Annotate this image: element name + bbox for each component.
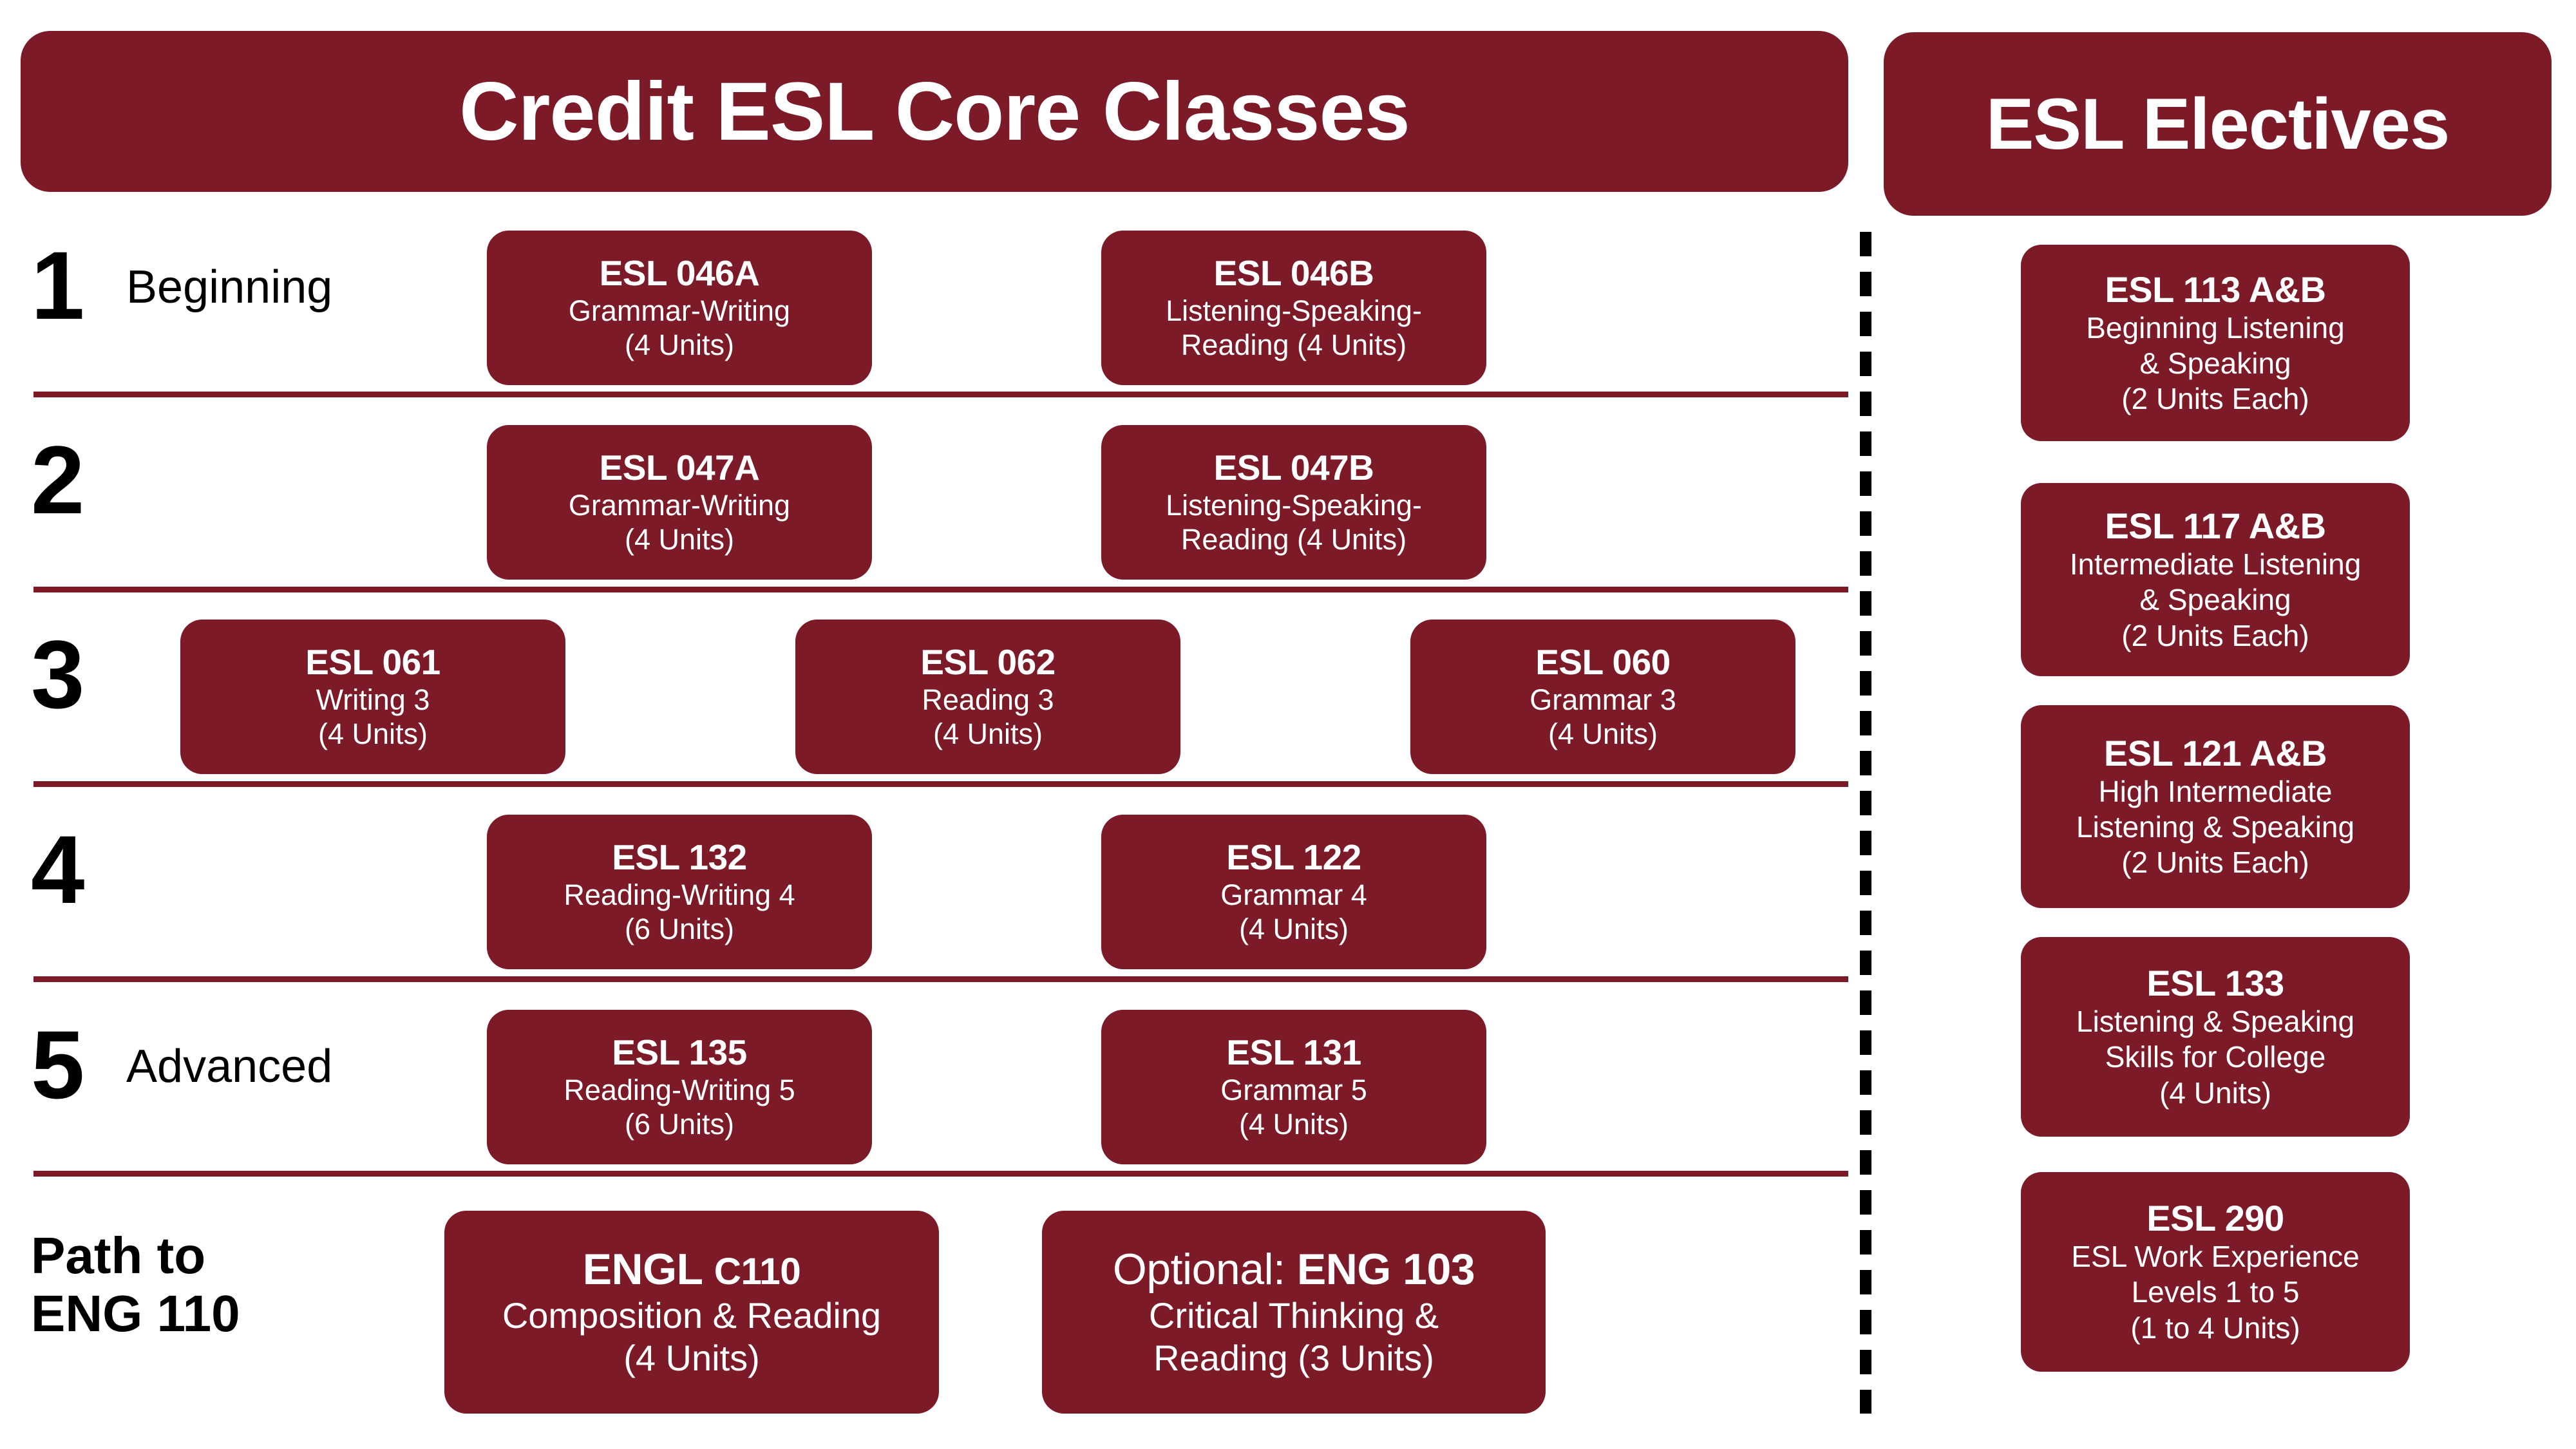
elective-code: ESL 113 A&B [2105,269,2325,310]
level-number-2: 2 [31,431,84,528]
course-box-esl-131[interactable]: ESL 131 Grammar 5 (4 Units) [1101,1010,1486,1164]
core-classes-banner: Credit ESL Core Classes [21,31,1848,192]
course-code-prefix: ENGL [583,1245,714,1294]
course-code-bold: ENG 103 [1297,1245,1475,1294]
course-code-suffix: C110 [714,1251,801,1293]
level-number-3: 3 [31,626,84,723]
course-box-esl-132[interactable]: ESL 132 Reading-Writing 4 (6 Units) [487,815,872,969]
course-desc: Writing 3 (4 Units) [316,683,430,751]
elective-desc: Listening & Speaking Skills for College … [2076,1004,2354,1111]
elective-box-esl-121[interactable]: ESL 121 A&B High Intermediate Listening … [2021,705,2410,908]
elective-code: ESL 290 [2146,1198,2284,1239]
elective-box-esl-133[interactable]: ESL 133 Listening & Speaking Skills for … [2021,937,2410,1137]
elective-box-esl-117[interactable]: ESL 117 A&B Intermediate Listening & Spe… [2021,483,2410,676]
course-box-esl-046a[interactable]: ESL 046A Grammar-Writing (4 Units) [487,231,872,385]
course-code: ESL 135 [612,1033,747,1073]
course-desc: Critical Thinking & Reading (3 Units) [1149,1294,1439,1379]
dashed-divider [1860,232,1871,1414]
elective-desc: ESL Work Experience Levels 1 to 5 (1 to … [2071,1239,2359,1346]
course-code: ENGL C110 [583,1245,801,1294]
path-to-eng110-label: Path to ENG 110 [31,1227,240,1342]
course-desc: Listening-Speaking- Reading (4 Units) [1166,488,1422,556]
course-box-esl-135[interactable]: ESL 135 Reading-Writing 5 (6 Units) [487,1010,872,1164]
course-box-esl-060[interactable]: ESL 060 Grammar 3 (4 Units) [1410,620,1795,774]
course-code: ESL 061 [305,643,440,683]
course-desc: Reading-Writing 4 (6 Units) [563,878,795,946]
level-word-beginning: Beginning [126,264,332,310]
course-desc: Reading-Writing 5 (6 Units) [563,1073,795,1141]
core-classes-banner-title: Credit ESL Core Classes [459,64,1410,159]
course-desc: Composition & Reading (4 Units) [502,1294,881,1379]
elective-box-esl-290[interactable]: ESL 290 ESL Work Experience Levels 1 to … [2021,1172,2410,1372]
course-code: ESL 046A [600,254,760,294]
course-box-eng-103-optional[interactable]: Optional: ENG 103 Critical Thinking & Re… [1042,1211,1546,1414]
electives-banner-title: ESL Electives [1986,82,2450,166]
course-box-esl-046b[interactable]: ESL 046B Listening-Speaking- Reading (4 … [1101,231,1486,385]
row-divider-1 [33,392,1848,397]
level-word-advanced: Advanced [126,1043,332,1090]
course-box-esl-047a[interactable]: ESL 047A Grammar-Writing (4 Units) [487,425,872,580]
row-divider-2 [33,587,1848,592]
course-box-esl-061[interactable]: ESL 061 Writing 3 (4 Units) [180,620,565,774]
course-code: ESL 047A [600,448,760,488]
elective-code: ESL 133 [2146,963,2284,1004]
course-desc: Grammar 4 (4 Units) [1220,878,1367,946]
electives-banner: ESL Electives [1884,32,2552,216]
elective-desc: High Intermediate Listening & Speaking (… [2076,774,2354,881]
course-box-engl-c110[interactable]: ENGL C110 Composition & Reading (4 Units… [444,1211,939,1414]
row-divider-3 [33,781,1848,787]
course-desc: Reading 3 (4 Units) [922,683,1054,751]
level-number-4: 4 [31,821,84,918]
course-code: ESL 122 [1226,838,1361,878]
course-box-esl-062[interactable]: ESL 062 Reading 3 (4 Units) [795,620,1180,774]
level-number-1: 1 [31,237,84,334]
course-box-esl-122[interactable]: ESL 122 Grammar 4 (4 Units) [1101,815,1486,969]
course-code: ESL 046B [1214,254,1374,294]
row-divider-4 [33,976,1848,982]
elective-code: ESL 117 A&B [2105,506,2325,547]
course-desc: Listening-Speaking- Reading (4 Units) [1166,294,1422,362]
elective-desc: Beginning Listening & Speaking (2 Units … [2086,310,2345,417]
course-desc: Grammar-Writing (4 Units) [569,294,790,362]
optional-prefix-label: Optional: [1113,1245,1297,1294]
course-code: ESL 132 [612,838,747,878]
course-code: ESL 060 [1535,643,1671,683]
elective-box-esl-113[interactable]: ESL 113 A&B Beginning Listening & Speaki… [2021,245,2410,441]
course-code: ESL 062 [920,643,1056,683]
elective-code: ESL 121 A&B [2104,733,2327,774]
row-divider-5 [33,1171,1848,1177]
course-desc: Grammar 5 (4 Units) [1220,1073,1367,1141]
elective-desc: Intermediate Listening & Speaking (2 Uni… [2070,547,2362,654]
course-desc: Grammar 3 (4 Units) [1529,683,1676,751]
course-code: ESL 047B [1214,448,1374,488]
course-box-esl-047b[interactable]: ESL 047B Listening-Speaking- Reading (4 … [1101,425,1486,580]
course-desc: Grammar-Writing (4 Units) [569,488,790,556]
level-number-5: 5 [31,1016,84,1113]
course-code: ESL 131 [1226,1033,1361,1073]
course-code: Optional: ENG 103 [1113,1245,1475,1294]
esl-pathway-infographic: Credit ESL Core Classes ESL Electives 1 … [0,0,2576,1449]
